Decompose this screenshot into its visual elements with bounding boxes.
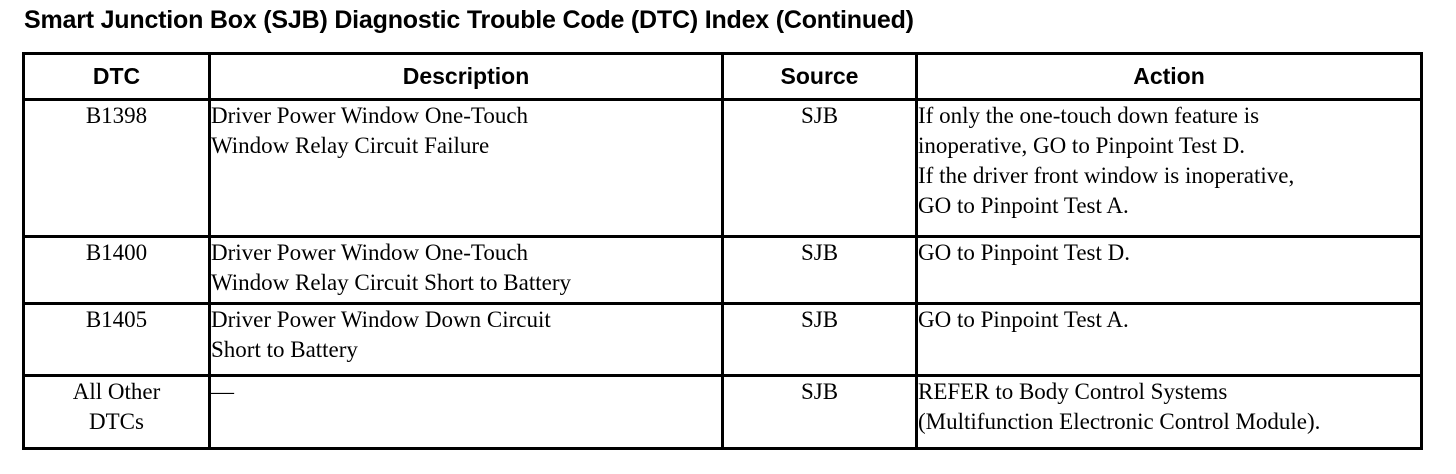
column-header-source-label: Source bbox=[724, 55, 915, 98]
cell-description: Driver Power Window Down Circuit Short t… bbox=[210, 304, 723, 376]
cell-source: SJB bbox=[723, 376, 917, 449]
table-header-row: DTC Description Source Action bbox=[24, 54, 1422, 100]
dtc-index-table: DTC Description Source Action B1398 Driv… bbox=[22, 52, 1423, 450]
cell-dtc: B1398 bbox=[24, 100, 210, 237]
cell-dtc: B1405 bbox=[24, 304, 210, 376]
column-header-dtc-label: DTC bbox=[25, 55, 208, 98]
table-row: B1405 Driver Power Window Down Circuit S… bbox=[24, 304, 1422, 376]
column-header-action: Action bbox=[917, 54, 1422, 100]
cell-description: Driver Power Window One-Touch Window Rel… bbox=[210, 100, 723, 237]
table-row: B1400 Driver Power Window One-Touch Wind… bbox=[24, 237, 1422, 304]
cell-dtc: B1400 bbox=[24, 237, 210, 304]
page-title: Smart Junction Box (SJB) Diagnostic Trou… bbox=[24, 5, 914, 35]
column-header-description-label: Description bbox=[211, 55, 721, 98]
column-header-dtc: DTC bbox=[24, 54, 210, 100]
cell-action: GO to Pinpoint Test D. bbox=[917, 237, 1422, 304]
cell-description: — bbox=[210, 376, 723, 449]
cell-description: Driver Power Window One-Touch Window Rel… bbox=[210, 237, 723, 304]
cell-source: SJB bbox=[723, 304, 917, 376]
cell-source: SJB bbox=[723, 237, 917, 304]
cell-dtc: All Other DTCs bbox=[24, 376, 210, 449]
table-row: B1398 Driver Power Window One-Touch Wind… bbox=[24, 100, 1422, 237]
cell-source: SJB bbox=[723, 100, 917, 237]
cell-action: GO to Pinpoint Test A. bbox=[917, 304, 1422, 376]
cell-action: REFER to Body Control Systems (Multifunc… bbox=[917, 376, 1422, 449]
document-page: Smart Junction Box (SJB) Diagnostic Trou… bbox=[0, 0, 1456, 474]
table-body: B1398 Driver Power Window One-Touch Wind… bbox=[24, 100, 1422, 449]
column-header-action-label: Action bbox=[918, 55, 1420, 98]
column-header-description: Description bbox=[210, 54, 723, 100]
cell-action: If only the one-touch down feature is in… bbox=[917, 100, 1422, 237]
table-header: DTC Description Source Action bbox=[24, 54, 1422, 100]
table-row: All Other DTCs — SJB REFER to Body Contr… bbox=[24, 376, 1422, 449]
column-header-source: Source bbox=[723, 54, 917, 100]
